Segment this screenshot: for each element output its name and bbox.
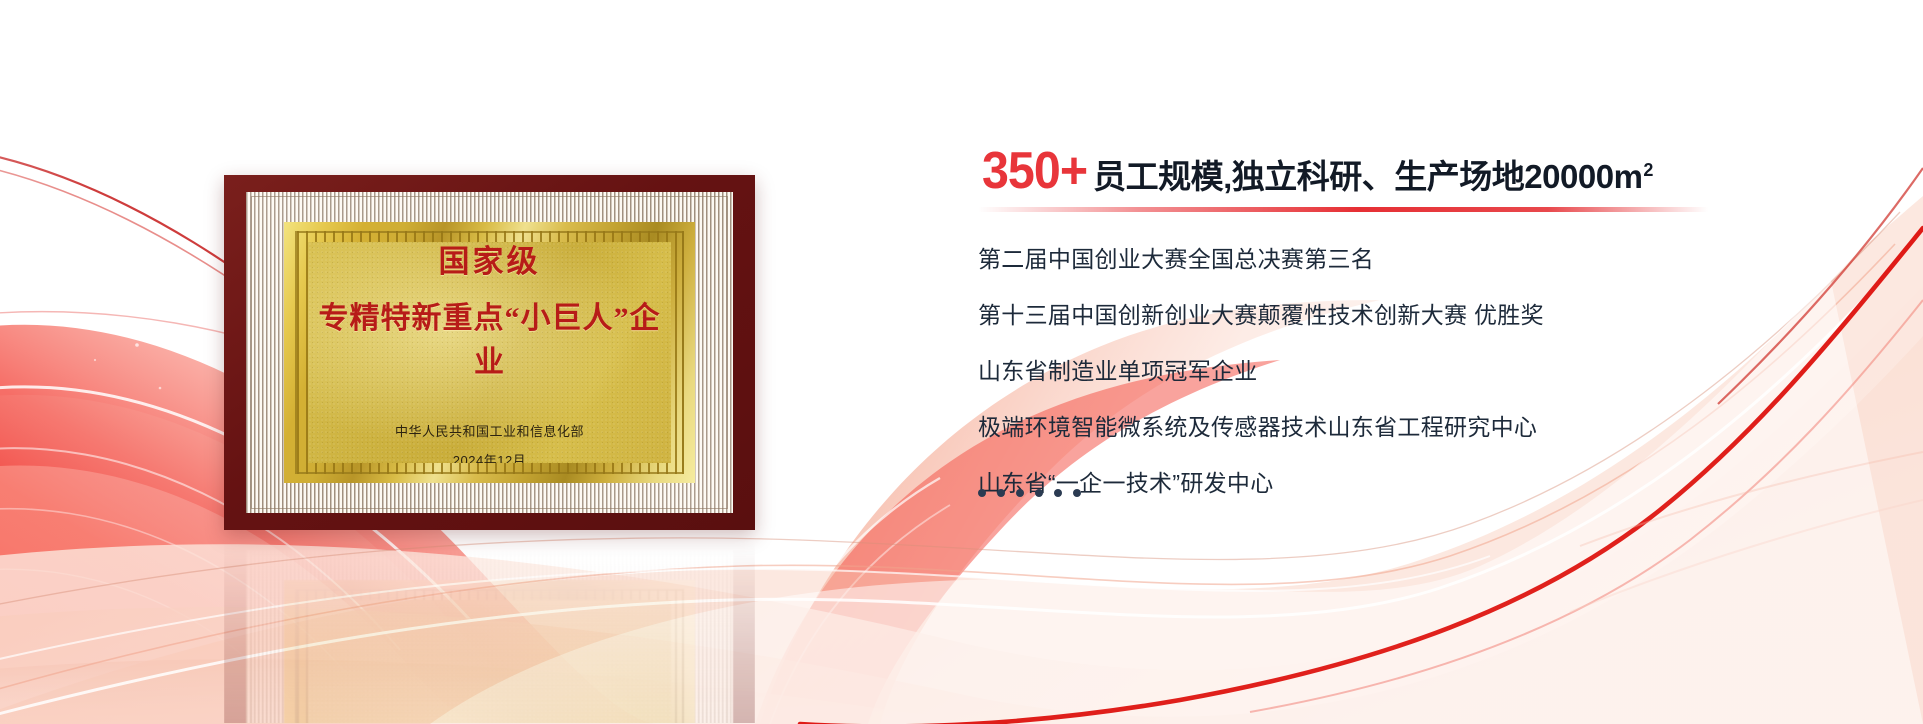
plaque-silver-border: 国家级 专精特新重点“小巨人”企业 中华人民共和国工业和信息化部 2024年12… (246, 192, 733, 513)
plaque-title-line1: 国家级 (308, 242, 671, 281)
plaque-date: 2024年12月 (308, 450, 671, 463)
banner-stage: 国家级 专精特新重点“小巨人”企业 中华人民共和国工业和信息化部 2024年12… (0, 0, 1923, 724)
headline: 350+ 员工规模‚独立科研、生产场地20000m 2 (978, 145, 1798, 197)
headline-text: 员工规模‚独立科研、生产场地20000m (1093, 159, 1642, 195)
plaque-reflection (224, 533, 755, 723)
ellipsis-dot (1035, 489, 1043, 497)
plaque-title-line2: 专精特新重点“小巨人”企业 (308, 293, 671, 381)
ellipsis-dot (978, 489, 986, 497)
reflection-silver-border (246, 550, 733, 723)
honors-panel: 350+ 员工规模‚独立科研、生产场地20000m 2 第二届中国创业大赛全国总… (978, 145, 1798, 497)
headline-divider (978, 207, 1708, 212)
reflection-gold-outer (284, 580, 695, 723)
honor-item: 第十三届中国创新创业大赛颠覆性技术创新大赛 优胜奖 (978, 304, 1798, 327)
ellipsis-dot (1054, 489, 1062, 497)
award-plaque: 国家级 专精特新重点“小巨人”企业 中华人民共和国工业和信息化部 2024年12… (224, 175, 755, 530)
honor-item: 山东省制造业单项冠军企业 (978, 360, 1798, 383)
plaque-issuer: 中华人民共和国工业和信息化部 (308, 421, 671, 440)
ellipsis-dot (1073, 489, 1081, 497)
plaque-outer-frame: 国家级 专精特新重点“小巨人”企业 中华人民共和国工业和信息化部 2024年12… (224, 175, 755, 530)
reflection-frame (224, 533, 755, 723)
honor-item: 极端环境智能微系统及传感器技术山东省工程研究中心 (978, 416, 1798, 439)
plaque-text-block: 国家级 专精特新重点“小巨人”企业 中华人民共和国工业和信息化部 2024年12… (308, 242, 671, 463)
honors-list: 第二届中国创业大赛全国总决赛第三名 第十三届中国创新创业大赛颠覆性技术创新大赛 … (978, 248, 1798, 495)
ellipsis-dot (1016, 489, 1024, 497)
ellipsis-dot (997, 489, 1005, 497)
plaque-gold-face: 国家级 专精特新重点“小巨人”企业 中华人民共和国工业和信息化部 2024年12… (308, 242, 671, 463)
reflection-gold-inner (308, 600, 671, 723)
honor-item: 第二届中国创业大赛全国总决赛第三名 (978, 248, 1798, 271)
headline-number: 350+ (982, 145, 1087, 197)
plaque-gold-border: 国家级 专精特新重点“小巨人”企业 中华人民共和国工业和信息化部 2024年12… (284, 222, 695, 483)
headline-superscript: 2 (1643, 160, 1653, 181)
